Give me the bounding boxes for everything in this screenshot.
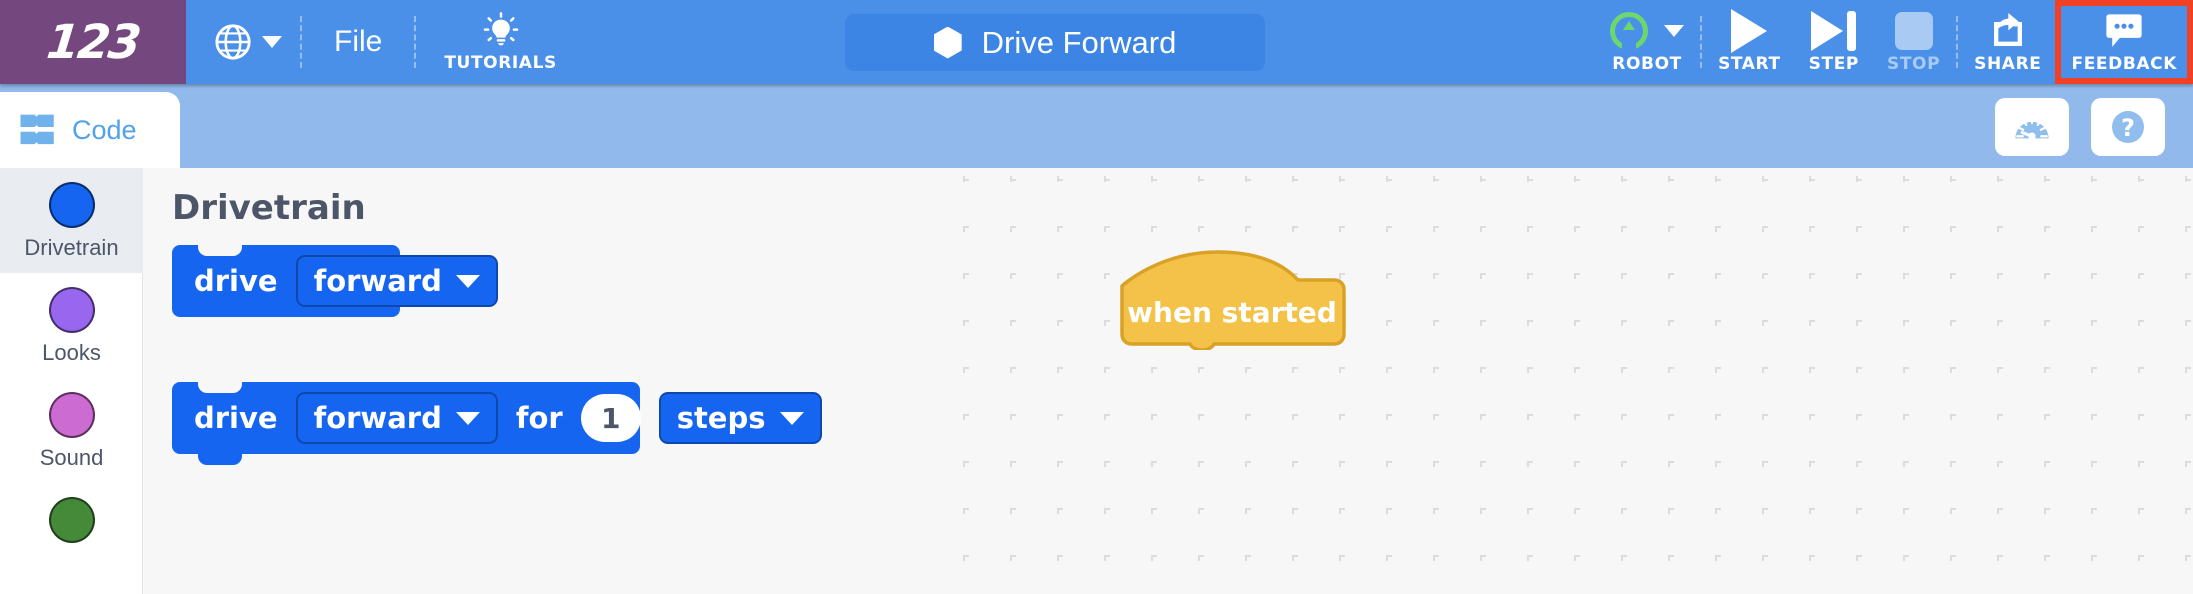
chevron-down-icon [780,412,804,425]
hat-block-label: when started [1118,296,1346,329]
sidebar-item-drivetrain[interactable]: Drivetrain [0,168,143,273]
toolbar-divider [300,16,302,68]
start-label: START [1718,54,1781,74]
share-icon [1987,11,2029,51]
top-toolbar: 123 File [0,0,2193,84]
help-icon: ? [2108,107,2148,147]
dashboard-icon [2012,110,2052,144]
dropdown-value: steps [677,401,766,435]
block-word-drive: drive [194,401,278,435]
svg-text:?: ? [2121,114,2135,142]
block-number-input[interactable]: 1 [581,394,641,442]
file-menu-label: File [334,25,382,59]
file-menu-button[interactable]: File [304,0,412,84]
toolbar-divider [414,16,416,68]
lightbulb-icon [481,11,521,51]
sidebar-item-looks[interactable]: Looks [0,273,143,378]
chevron-down-icon [456,412,480,425]
block-notch [198,245,242,256]
globe-icon [214,23,252,61]
block-dropdown-units[interactable]: steps [659,392,822,444]
sidebar-item-label: Drivetrain [24,235,118,261]
workspace-grid [911,168,2193,594]
project-title-button[interactable]: Drive Forward [845,14,1265,71]
toolbar-left-group: File [186,0,583,84]
stop-icon [1895,11,1933,51]
block-word-drive: drive [194,264,278,298]
main-content: Drivetrain Looks Sound Drivetrain drive [0,168,2193,594]
code-blocks-icon [16,109,60,151]
tab-code-label: Code [72,115,137,146]
app-logo: 123 [0,0,186,84]
feedback-button[interactable]: FEEDBACK [2055,0,2193,84]
robot-label: ROBOT [1612,54,1682,74]
stop-label: STOP [1887,54,1940,74]
block-dropdown-direction[interactable]: forward [296,392,498,444]
step-button[interactable]: STEP [1795,0,1873,84]
logo-text: 123 [44,15,142,70]
palette-block-drive-forward-for-steps[interactable]: drive forward for 1 steps [172,382,640,454]
toolbar-divider [1700,16,1702,68]
play-icon [1731,11,1767,51]
chevron-down-icon [262,36,282,48]
dropdown-value: forward [314,264,442,298]
share-label: SHARE [1974,54,2041,74]
robot-button[interactable]: ROBOT [1596,0,1698,84]
feedback-icon [2103,11,2145,51]
tutorials-button[interactable]: TUTORIALS [418,0,583,84]
dashboard-button[interactable] [1995,98,2069,156]
project-title: Drive Forward [982,25,1177,61]
tab-code[interactable]: Code [0,92,180,168]
sidebar-item-next[interactable] [0,483,143,555]
chevron-down-icon [456,275,480,288]
step-icon [1811,11,1856,51]
toolbar-right-group: ROBOT START STEP STOP [1596,0,2193,84]
feedback-label: FEEDBACK [2071,54,2177,74]
share-button[interactable]: SHARE [1960,0,2055,84]
vexcode-123-app: 123 File [0,0,2193,594]
category-color-dot [49,392,95,438]
secondary-toolbar: Code [0,84,2193,168]
block-notch [198,382,242,393]
dropdown-value: forward [314,401,442,435]
help-button[interactable]: ? [2091,98,2165,156]
workspace-block-when-started[interactable]: when started [1118,250,1346,339]
category-color-dot [49,287,95,333]
step-label: STEP [1809,54,1859,74]
category-color-dot [49,182,95,228]
start-button[interactable]: START [1704,0,1795,84]
hexagon-icon [934,27,962,59]
workspace-tools: ? [1995,98,2165,156]
sidebar-item-sound[interactable]: Sound [0,378,143,483]
palette-block-drive-forward[interactable]: drive forward [172,245,400,317]
toolbar-divider [1956,16,1958,68]
tutorials-label: TUTORIALS [444,53,557,73]
palette-title: Drivetrain [172,188,366,228]
language-selector[interactable] [186,0,298,84]
chevron-down-icon [1664,25,1684,37]
category-sidebar: Drivetrain Looks Sound [0,168,143,594]
block-dropdown-direction[interactable]: forward [296,255,498,307]
block-tab [198,454,242,465]
block-word-for: for [516,401,563,435]
category-color-dot [49,497,95,543]
block-workspace[interactable]: when started [911,168,2193,594]
robot-icon [1610,11,1684,51]
sidebar-item-label: Sound [40,445,104,471]
sidebar-item-label: Looks [42,340,101,366]
block-palette[interactable]: Drivetrain drive forward drive forward [143,168,911,594]
stop-button[interactable]: STOP [1873,0,1954,84]
